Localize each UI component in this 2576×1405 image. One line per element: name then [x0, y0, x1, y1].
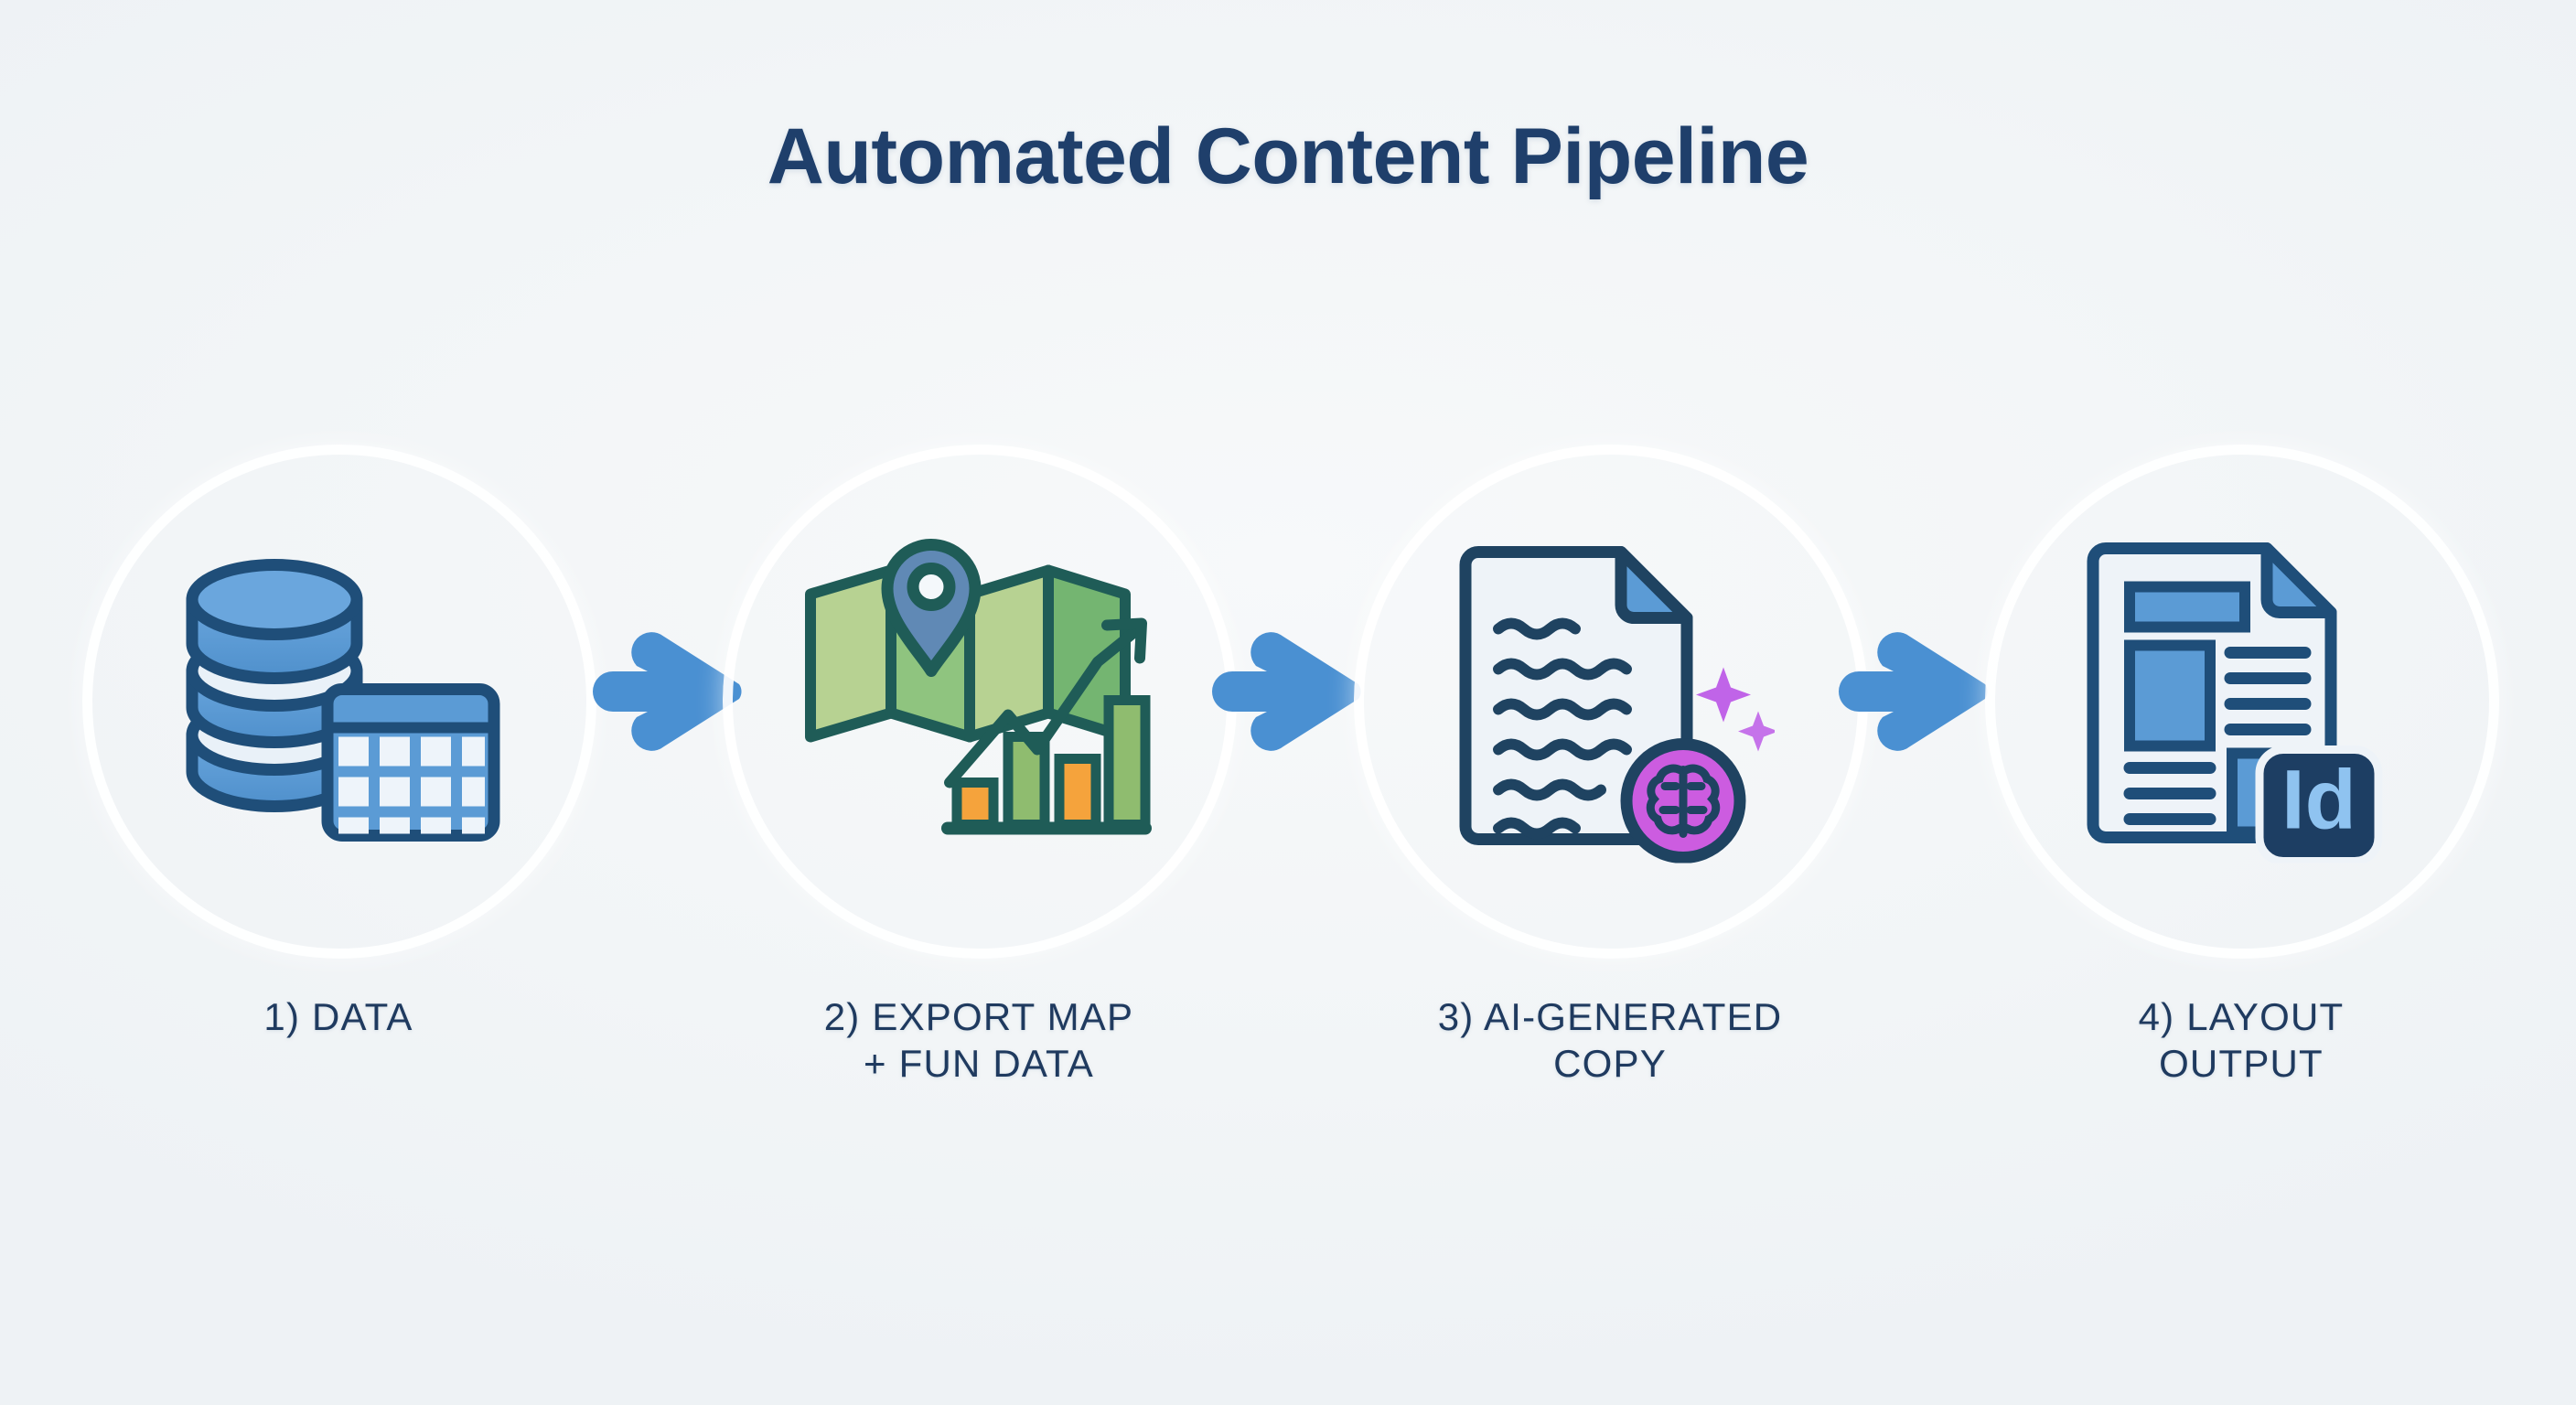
- indesign-badge-text: Id: [2281, 754, 2356, 847]
- stage-ring-2: [714, 435, 1244, 966]
- stage-2-label: 2) EXPORT MAP + FUN DATA: [714, 993, 1244, 1087]
- stage-2-export-map: 2) EXPORT MAP + FUN DATA: [714, 435, 1244, 966]
- stage-1-data: 1) DATA: [73, 435, 604, 966]
- stage-1-label-line1: 1) DATA: [263, 995, 413, 1038]
- ai-document-brain-icon: [1445, 534, 1775, 868]
- stage-3-label-line2: COPY: [1345, 1040, 1875, 1087]
- stage-2-label-line2: + FUN DATA: [714, 1040, 1244, 1087]
- stage-3-label: 3) AI-GENERATED COPY: [1345, 993, 1875, 1087]
- layout-indesign-icon: Id: [2077, 534, 2406, 868]
- stage-3-ai-copy: 3) AI-GENERATED COPY: [1345, 435, 1875, 966]
- stage-3-label-line1: 3) AI-GENERATED: [1438, 995, 1783, 1038]
- stage-ring-3: [1345, 435, 1875, 966]
- stage-1-label: 1) DATA: [73, 993, 604, 1040]
- pipeline-diagram: 1) DATA: [0, 0, 2576, 1405]
- map-chart-icon: [796, 534, 1162, 868]
- stage-2-label-line1: 2) EXPORT MAP: [824, 995, 1133, 1038]
- stage-4-layout-output: Id 4) LAYOUT OUTPUT: [1976, 435, 2506, 966]
- stage-4-label-line1: 4) LAYOUT: [2139, 995, 2345, 1038]
- stage-ring-1: [73, 435, 604, 966]
- stage-4-label: 4) LAYOUT OUTPUT: [1976, 993, 2506, 1087]
- database-table-icon: [165, 543, 512, 859]
- stage-ring-4: Id: [1976, 435, 2506, 966]
- stage-4-label-line2: OUTPUT: [1976, 1040, 2506, 1087]
